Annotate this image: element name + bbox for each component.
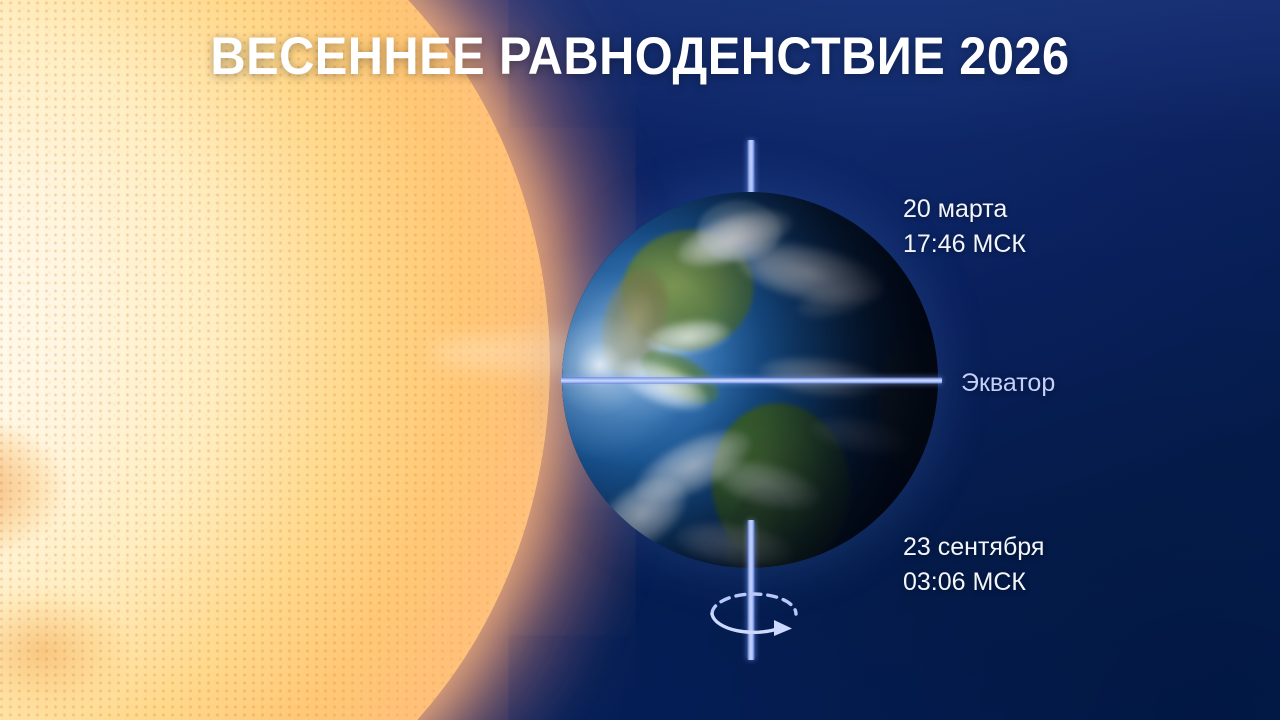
autumn-equinox-date: 23 сентября bbox=[903, 533, 1044, 561]
page-title: ВЕСЕННЕЕ РАВНОДЕНСТВИЕ 2026 bbox=[51, 26, 1229, 87]
equinox-infographic: ВЕСЕННЕЕ РАВНОДЕНСТВИЕ 2026 20 марта 17:… bbox=[0, 0, 1280, 720]
autumn-equinox-callout: 23 сентября 03:06 МСК bbox=[903, 530, 1044, 600]
equator-label: Экватор bbox=[961, 369, 1055, 398]
spring-equinox-callout: 20 марта 17:46 МСК bbox=[903, 192, 1026, 262]
rotation-arrow-icon bbox=[706, 586, 802, 642]
spring-equinox-time: 17:46 МСК bbox=[903, 227, 1026, 262]
autumn-equinox-time: 03:06 МСК bbox=[903, 565, 1044, 600]
spring-equinox-date: 20 марта bbox=[903, 195, 1007, 223]
equator-line bbox=[561, 377, 942, 384]
